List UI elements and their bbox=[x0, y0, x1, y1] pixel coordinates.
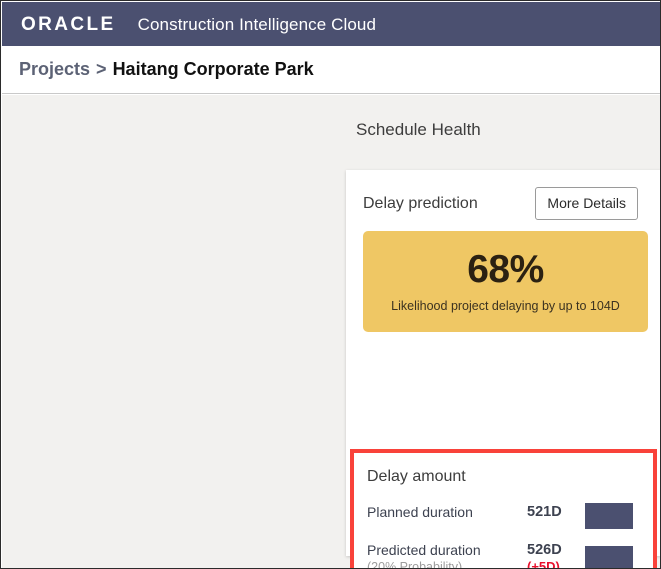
row-value-group: 521D bbox=[527, 503, 585, 521]
breadcrumb-current-project: Haitang Corporate Park bbox=[113, 59, 314, 80]
table-row: Planned duration 521D bbox=[367, 503, 649, 535]
delay-likelihood-percent: 68% bbox=[467, 250, 544, 289]
row-value: 526D bbox=[527, 541, 585, 559]
delay-amount-panel: Delay amount Planned duration 521D bbox=[354, 453, 653, 569]
app-window: ORACLE Construction Intelligence Cloud P… bbox=[0, 0, 661, 569]
row-value: 521D bbox=[527, 503, 585, 521]
delay-likelihood-tile: 68% Likelihood project delaying by up to… bbox=[363, 231, 648, 332]
row-label-group: Planned duration bbox=[367, 503, 522, 521]
delay-prediction-panel: Delay prediction More Details 68% Likeli… bbox=[346, 170, 661, 346]
row-label: Planned duration bbox=[367, 503, 522, 521]
more-details-button[interactable]: More Details bbox=[535, 187, 638, 220]
row-bar bbox=[585, 503, 633, 529]
breadcrumb: Projects > Haitang Corporate Park bbox=[2, 46, 661, 94]
table-row: Predicted duration (20% Probability) 526… bbox=[367, 541, 649, 569]
row-bar bbox=[585, 546, 633, 569]
row-value-group: 526D (+5D) bbox=[527, 541, 585, 569]
breadcrumb-link-projects[interactable]: Projects bbox=[19, 59, 90, 80]
row-label-group: Predicted duration (20% Probability) bbox=[367, 541, 522, 569]
delay-prediction-header: Delay prediction More Details bbox=[363, 187, 648, 223]
top-brand-bar: ORACLE Construction Intelligence Cloud bbox=[2, 2, 661, 46]
oracle-logo: ORACLE bbox=[21, 15, 116, 34]
delay-prediction-title: Delay prediction bbox=[363, 195, 478, 213]
delay-likelihood-caption: Likelihood project delaying by up to 104… bbox=[391, 299, 620, 313]
app-title: Construction Intelligence Cloud bbox=[138, 16, 376, 33]
schedule-health-title: Schedule Health bbox=[356, 120, 481, 140]
delay-amount-highlight-box: Delay amount Planned duration 521D bbox=[350, 449, 657, 569]
row-label: Predicted duration bbox=[367, 541, 522, 559]
bar-base-segment bbox=[585, 503, 633, 529]
bar-base-segment bbox=[585, 546, 633, 569]
content-area: Schedule Health Delay prediction More De… bbox=[2, 95, 661, 568]
row-sublabel: (20% Probability) bbox=[367, 559, 522, 569]
breadcrumb-separator-icon: > bbox=[96, 59, 107, 80]
delay-amount-title: Delay amount bbox=[367, 468, 466, 486]
row-delta: (+5D) bbox=[527, 559, 585, 569]
